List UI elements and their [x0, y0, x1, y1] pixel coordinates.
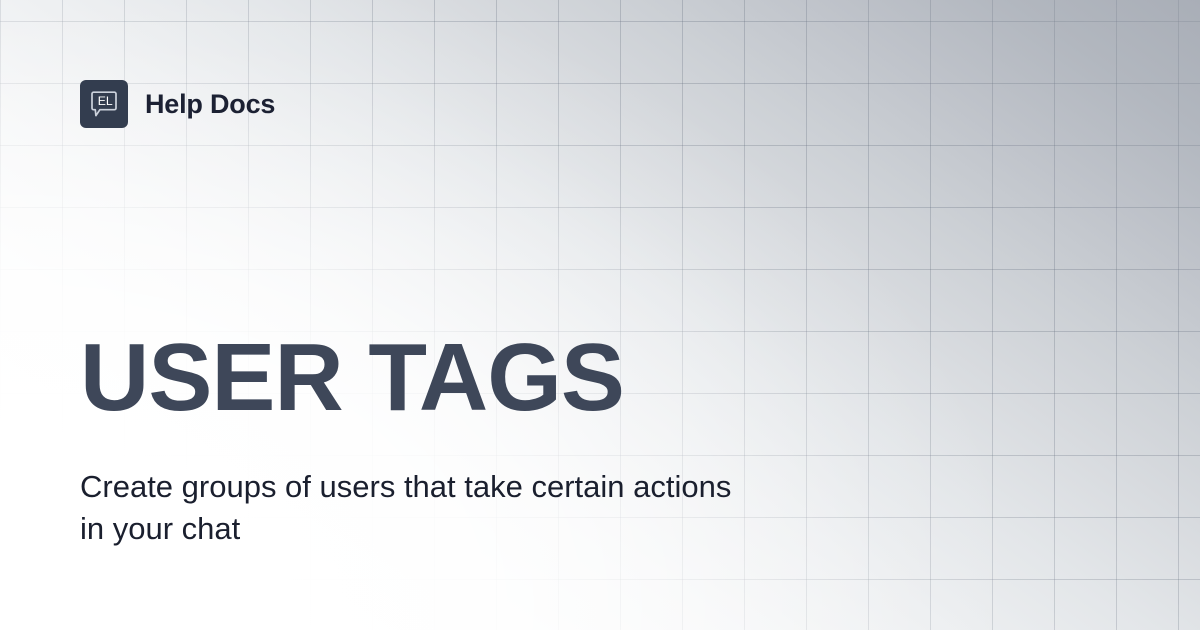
page-title: USER TAGS — [80, 330, 980, 426]
subtitle-line-1: Create groups of users that take certain… — [80, 469, 731, 504]
svg-text:EL: EL — [98, 94, 113, 108]
hero-content: USER TAGS Create groups of users that ta… — [80, 330, 980, 550]
brand-header[interactable]: EL Help Docs — [80, 80, 275, 128]
page-subtitle: Create groups of users that take certain… — [80, 466, 870, 550]
brand-logo[interactable]: EL — [80, 80, 128, 128]
speech-bubble-icon: EL — [89, 89, 119, 119]
subtitle-line-2: in your chat — [80, 511, 240, 546]
brand-name: Help Docs — [145, 91, 275, 118]
share-banner: EL Help Docs USER TAGS Create groups of … — [0, 0, 1200, 630]
